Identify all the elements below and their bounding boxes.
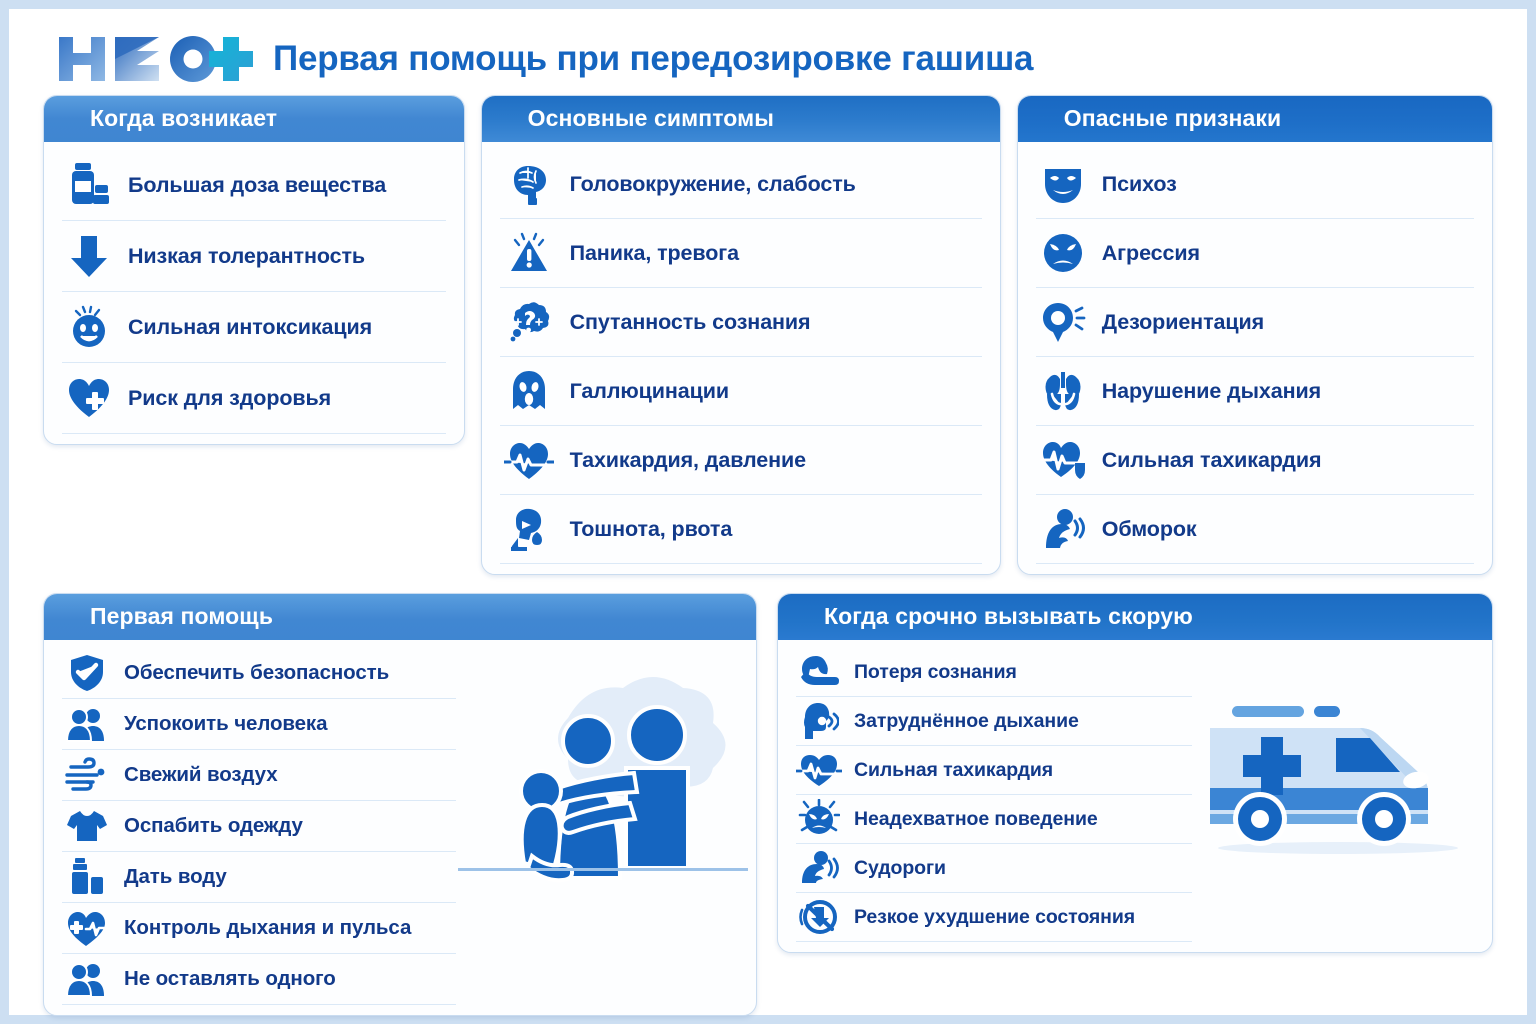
- breathing-difficulty-icon: [796, 698, 842, 744]
- card-when-occurs: Когда возникает Большая доза вещества: [43, 95, 465, 445]
- list-item[interactable]: Дезориентация: [1036, 288, 1474, 357]
- list-item-label: Тахикардия, давление: [570, 448, 810, 473]
- list-item-label: Риск для здоровья: [128, 386, 335, 411]
- card-danger-signs-body: Психоз Агрессия: [1018, 142, 1492, 574]
- card-when-occurs-title: Когда возникает: [44, 96, 464, 142]
- heart-cross-pulse-icon: [62, 904, 112, 952]
- list-item-label: Обеспечить безопасность: [124, 661, 393, 685]
- list-item[interactable]: Неадехватное поведение: [796, 795, 1192, 844]
- list-item[interactable]: Большая доза вещества: [62, 150, 446, 221]
- wind-icon: [62, 751, 112, 799]
- list-item-label: Успокоить человека: [124, 712, 331, 736]
- list-item-label: Сильная тахикардия: [854, 759, 1057, 782]
- lungs-icon: [1036, 360, 1090, 422]
- list-item-label: Затруднённое дыхание: [854, 710, 1083, 733]
- fainting-person-icon: [1036, 498, 1090, 560]
- brain-icon: [500, 153, 558, 215]
- water-bottle-icon: [62, 853, 112, 901]
- list-item-label: Неадехватное поведение: [854, 808, 1102, 831]
- two-people-icon: [62, 700, 112, 748]
- list-item[interactable]: Сильная интоксикация: [62, 292, 446, 363]
- list-item-label: Не оставлять одного: [124, 967, 340, 991]
- list-item-label: Галлюцинации: [570, 379, 733, 404]
- unconscious-person-icon: [796, 649, 842, 695]
- bottom-card-row: Первая помощь Обеспечить безопасность: [29, 575, 1507, 1016]
- list-item[interactable]: Сильная тахикардия: [796, 746, 1192, 795]
- list-item[interactable]: Низкая толерантность: [62, 221, 446, 292]
- list-item-label: Психоз: [1102, 172, 1181, 197]
- card-main-symptoms-title: Основные симптомы: [482, 96, 1000, 142]
- list-item[interactable]: Риск для здоровья: [62, 363, 446, 434]
- card-call-ambulance-body: Потеря сознания Затруднённое дыхание: [778, 640, 1492, 952]
- decline-arrow-icon: [796, 894, 842, 940]
- card-main-symptoms-body: Головокружение, слабость Паника, тревога: [482, 142, 1000, 574]
- list-item[interactable]: Тошнота, рвота: [500, 495, 982, 564]
- shield-check-icon: [62, 649, 112, 697]
- card-call-ambulance: Когда срочно вызывать скорую Потеря созн…: [777, 593, 1493, 953]
- list-item-label: Обморок: [1102, 517, 1201, 542]
- list-item[interactable]: Галлюцинации: [500, 357, 982, 426]
- list-item-label: Сильная тахикардия: [1102, 448, 1326, 473]
- list-item-label: Контроль дыхания и пульса: [124, 916, 415, 940]
- list-item-label: Потеря сознания: [854, 661, 1021, 684]
- list-item-label: Судороги: [854, 857, 950, 880]
- list-item-label: Спутанность сознания: [570, 310, 815, 335]
- list-item-label: Низкая толерантность: [128, 244, 369, 269]
- list-item-label: Резкое ухудшение состояния: [854, 906, 1139, 929]
- list-item[interactable]: Свежий воздух: [62, 750, 456, 801]
- tshirt-icon: [62, 802, 112, 850]
- dizzy-face-icon: [62, 297, 116, 357]
- agitated-face-icon: [796, 796, 842, 842]
- list-item-label: Головокружение, слабость: [570, 172, 860, 197]
- card-first-aid-title: Первая помощь: [44, 594, 756, 640]
- top-card-row: Когда возникает Большая доза вещества: [29, 95, 1507, 575]
- list-item[interactable]: Резкое ухудшение состояния: [796, 893, 1192, 942]
- page-header: Первая помощь при передозировке гашиша: [29, 23, 1507, 95]
- list-item[interactable]: Сильная тахикардия: [1036, 426, 1474, 495]
- seizure-person-icon: [796, 845, 842, 891]
- card-first-aid-body: Обеспечить безопасность Успокоить челове…: [44, 640, 756, 1015]
- list-item[interactable]: Спутанность сознания: [500, 288, 982, 357]
- logo-mark: [55, 31, 255, 87]
- neo-plus-logo: [55, 33, 255, 85]
- list-item-label: Оспабить одежду: [124, 814, 307, 838]
- card-danger-signs: Опасные признаки Психоз: [1017, 95, 1493, 575]
- warning-triangle-icon: [500, 222, 558, 284]
- list-item-label: Свежий воздух: [124, 763, 282, 787]
- thought-question-icon: [500, 291, 558, 353]
- pill-bottle-icon: [62, 155, 116, 215]
- card-call-ambulance-title: Когда срочно вызывать скорую: [778, 594, 1492, 640]
- vomiting-icon: [500, 498, 558, 560]
- down-arrow-icon: [62, 226, 116, 286]
- list-item[interactable]: Судороги: [796, 844, 1192, 893]
- card-danger-signs-title: Опасные признаки: [1018, 96, 1492, 142]
- list-item[interactable]: Нарушение дыхания: [1036, 357, 1474, 426]
- card-first-aid: Первая помощь Обеспечить безопасность: [43, 593, 757, 1016]
- two-people-icon: [62, 955, 112, 1003]
- list-item-label: Большая доза вещества: [128, 173, 390, 198]
- list-item-label: Агрессия: [1102, 241, 1204, 266]
- list-item[interactable]: Тахикардия, давление: [500, 426, 982, 495]
- list-item[interactable]: Агрессия: [1036, 219, 1474, 288]
- list-item[interactable]: Головокружение, слабость: [500, 150, 982, 219]
- heart-cross-icon: [62, 368, 116, 428]
- heart-pulse-shield-icon: [1036, 429, 1090, 491]
- list-item-label: Тошнота, рвота: [570, 517, 737, 542]
- card-main-symptoms: Основные симптомы Головокружение, слабос…: [481, 95, 1001, 575]
- list-item[interactable]: Обморок: [1036, 495, 1474, 564]
- list-item[interactable]: Затруднённое дыхание: [796, 697, 1192, 746]
- list-item[interactable]: Контроль дыхания и пульса: [62, 903, 456, 954]
- list-item[interactable]: Успокоить человека: [62, 699, 456, 750]
- evil-mask-icon: [1036, 153, 1090, 215]
- list-item-label: Паника, тревога: [570, 241, 743, 266]
- infographic-page: Первая помощь при передозировке гашиша К…: [9, 9, 1527, 1015]
- angry-face-icon: [1036, 222, 1090, 284]
- ghost-icon: [500, 360, 558, 422]
- card-when-occurs-body: Большая доза вещества Низкая толерантнос…: [44, 142, 464, 444]
- list-item[interactable]: Паника, тревога: [500, 219, 982, 288]
- disoriented-head-icon: [1036, 291, 1090, 353]
- list-item[interactable]: Обеспечить безопасность: [62, 648, 456, 699]
- page-title: Первая помощь при передозировке гашиша: [273, 39, 1033, 79]
- list-item-label: Нарушение дыхания: [1102, 379, 1325, 404]
- list-item[interactable]: Дать воду: [62, 852, 456, 903]
- heart-pulse-icon: [796, 747, 842, 793]
- list-item[interactable]: Не оставлять одного: [62, 954, 456, 1005]
- list-item[interactable]: Психоз: [1036, 150, 1474, 219]
- list-item-label: Сильная интоксикация: [128, 315, 376, 340]
- list-item[interactable]: Оспабить одежду: [62, 801, 456, 852]
- list-item-label: Дать воду: [124, 865, 231, 889]
- list-item[interactable]: Потеря сознания: [796, 648, 1192, 697]
- heart-pulse-icon: [500, 429, 558, 491]
- list-item-label: Дезориентация: [1102, 310, 1268, 335]
